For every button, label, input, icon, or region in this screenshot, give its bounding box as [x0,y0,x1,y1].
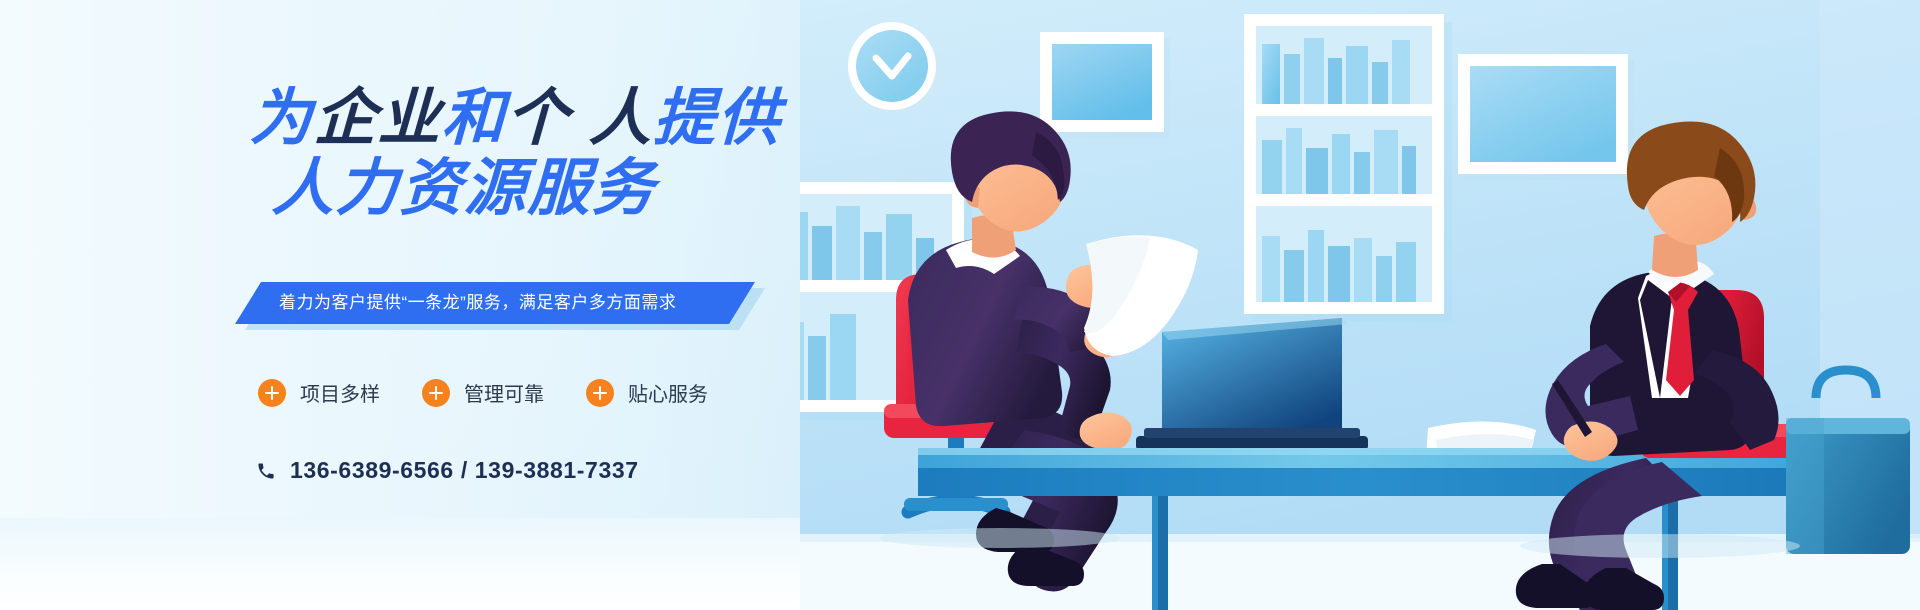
subtitle-banner: 着力为客户提供“一条龙”服务，满足客户多方面需求 [235,282,755,324]
plus-icon [422,379,450,407]
headline-seg-3: 和 [441,84,507,153]
plus-icon [258,379,286,407]
phone-number: 136-6389-6566 / 139-3881-7337 [290,457,639,484]
hero-banner: 为企业和个 人提供 人力资源服务 着力为客户提供“一条龙”服务，满足客户多方面需… [0,0,1920,610]
headline-seg-4: 个 人 [505,84,655,153]
feature-label-3: 贴心服务 [628,378,708,407]
feature-label-1: 项目多样 [300,378,380,407]
feature-item-1[interactable]: 项目多样 [258,378,380,407]
feature-label-2: 管理可靠 [464,378,544,407]
headline-line-1: 为企业和个 人提供 [249,86,871,152]
headline-line-2: 人力资源服务 [249,156,871,222]
feature-item-3[interactable]: 贴心服务 [586,378,708,407]
picture-frame-left [1040,32,1170,138]
bookshelf-right [1244,14,1452,322]
headline-seg-2: 企业 [313,84,443,153]
wall-shelf-far-right [1458,54,1634,180]
headline-seg-1: 为 [249,84,315,153]
phone-icon [256,461,276,481]
hero-text-column: 为企业和个 人提供 人力资源服务 [250,86,870,222]
laptop [1136,318,1368,450]
subtitle-text: 着力为客户提供“一条龙”服务，满足客户多方面需求 [279,282,676,324]
contact-phone[interactable]: 136-6389-6566 / 139-3881-7337 [256,457,639,484]
plus-icon [586,379,614,407]
feature-item-2[interactable]: 管理可靠 [422,378,544,407]
headline-seg-5: 提供 [652,84,782,153]
business-interview-illustration [800,0,1920,610]
feature-list: 项目多样 管理可靠 贴心服务 [258,378,708,407]
